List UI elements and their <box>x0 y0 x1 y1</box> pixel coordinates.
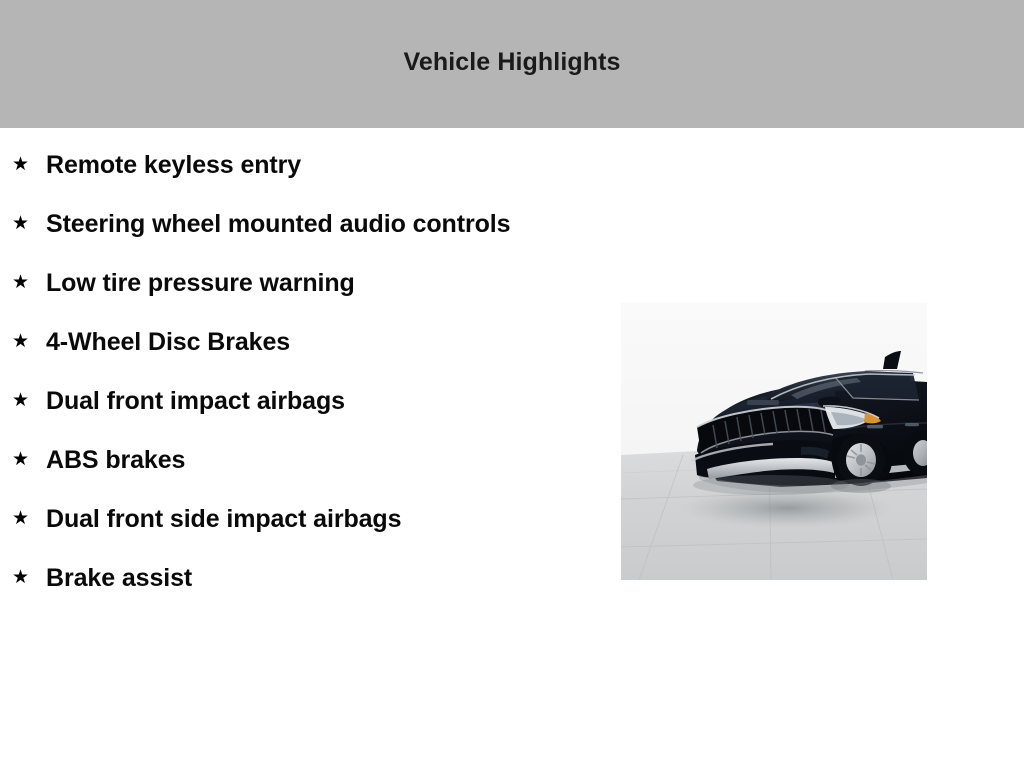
star-bullet-icon: ★ <box>12 445 46 475</box>
highlight-item-label: Remote keyless entry <box>46 150 596 180</box>
vehicle-highlights-list: ★Remote keyless entry★Steering wheel mou… <box>0 128 600 622</box>
highlight-item: ★Steering wheel mounted audio controls <box>0 209 600 239</box>
vehicle-highlights-page: Vehicle Highlights ★Remote keyless entry… <box>0 0 1024 768</box>
highlight-item: ★ABS brakes <box>0 445 600 475</box>
star-bullet-icon: ★ <box>12 150 46 180</box>
highlight-item-label: ABS brakes <box>46 445 596 475</box>
star-bullet-icon: ★ <box>12 504 46 534</box>
highlight-item: ★Brake assist <box>0 563 600 593</box>
highlight-item-label: Steering wheel mounted audio controls <box>46 209 596 239</box>
header-band: Vehicle Highlights <box>0 0 1024 128</box>
brand-badge <box>747 400 779 405</box>
star-bullet-icon: ★ <box>12 209 46 239</box>
door-handle <box>867 425 883 428</box>
star-bullet-icon: ★ <box>12 268 46 298</box>
highlight-item: ★4-Wheel Disc Brakes <box>0 327 600 357</box>
vehicle-photo-illustration <box>621 303 927 580</box>
highlight-item-label: 4-Wheel Disc Brakes <box>46 327 596 357</box>
highlight-item-label: Brake assist <box>46 563 596 593</box>
highlight-item-label: Dual front side impact airbags <box>46 504 596 534</box>
highlight-item-label: Low tire pressure warning <box>46 268 596 298</box>
star-bullet-icon: ★ <box>12 386 46 416</box>
highlight-item: ★Dual front side impact airbags <box>0 504 600 534</box>
highlight-item: ★Remote keyless entry <box>0 150 600 180</box>
highlight-item: ★Dual front impact airbags <box>0 386 600 416</box>
vehicle-photo <box>621 303 927 580</box>
highlight-item-label: Dual front impact airbags <box>46 386 596 416</box>
page-title: Vehicle Highlights <box>403 50 620 75</box>
star-bullet-icon: ★ <box>12 327 46 357</box>
star-bullet-icon: ★ <box>12 563 46 593</box>
highlight-item: ★Low tire pressure warning <box>0 268 600 298</box>
door-handle <box>905 423 919 426</box>
